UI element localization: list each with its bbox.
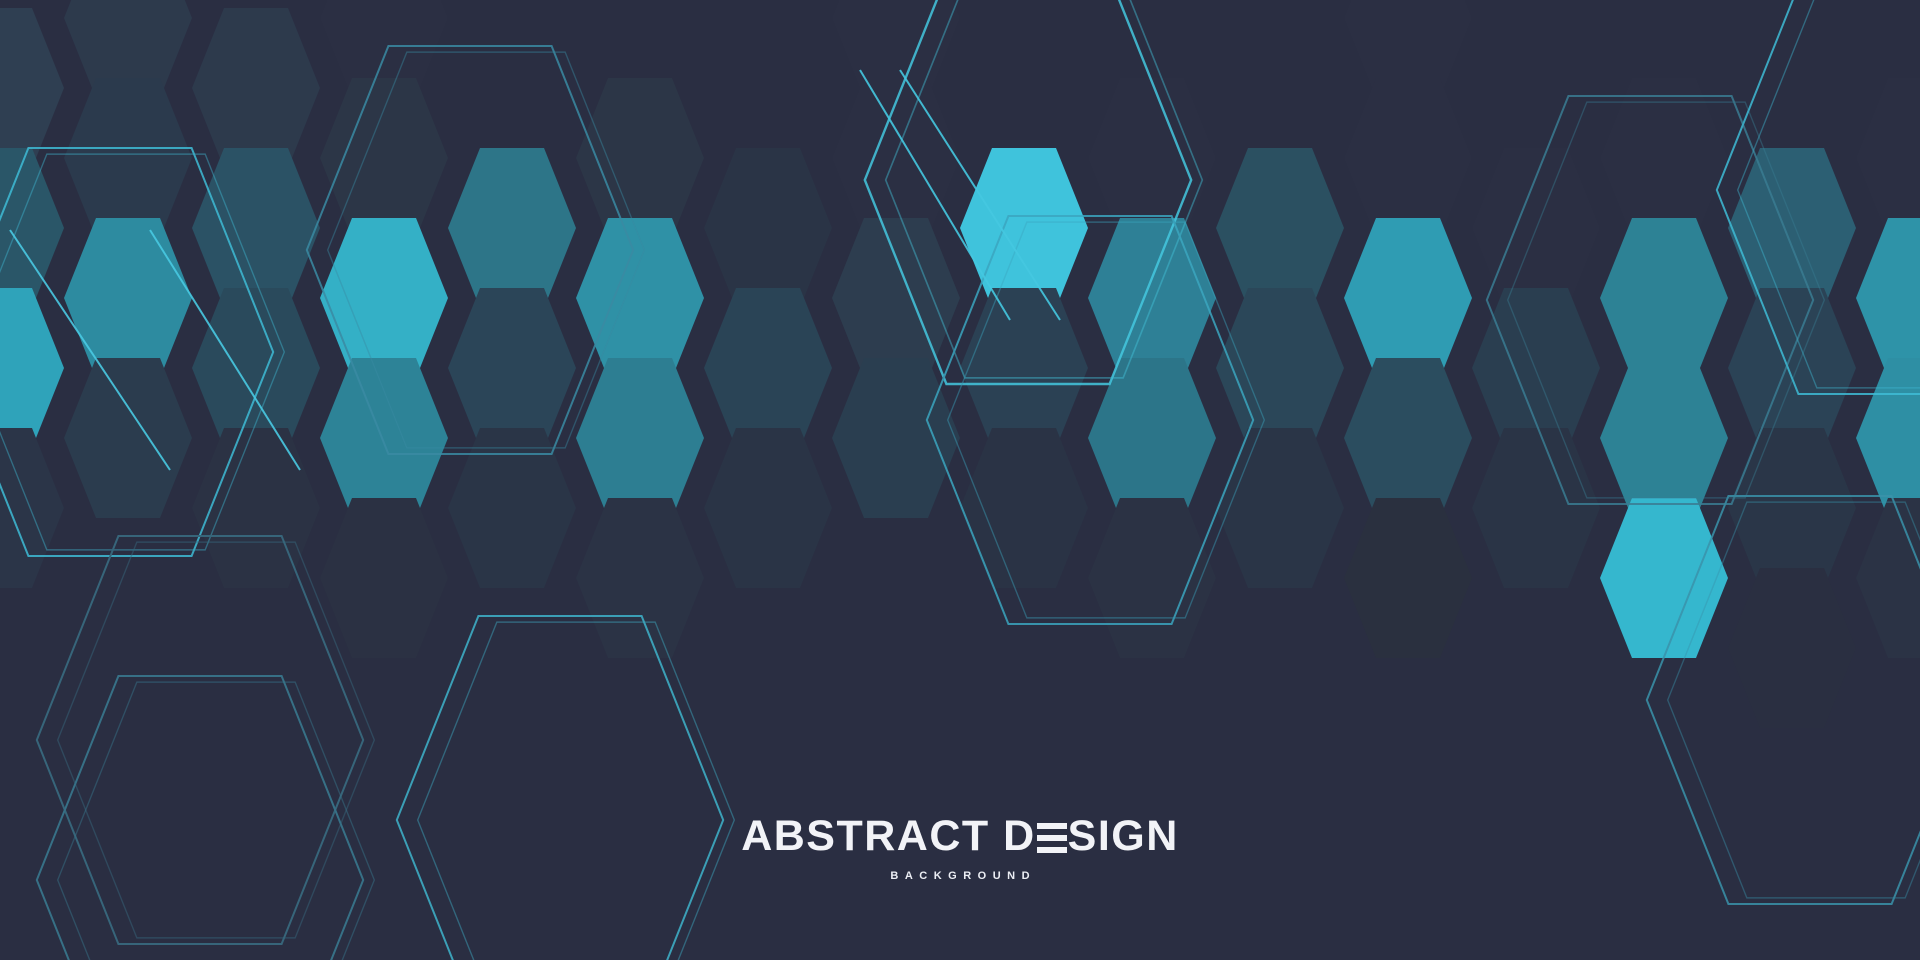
abstract-design-banner: ABSTRACT DSIGN BACKGROUND	[0, 0, 1920, 960]
hexagon-pattern-canvas	[0, 0, 1920, 960]
